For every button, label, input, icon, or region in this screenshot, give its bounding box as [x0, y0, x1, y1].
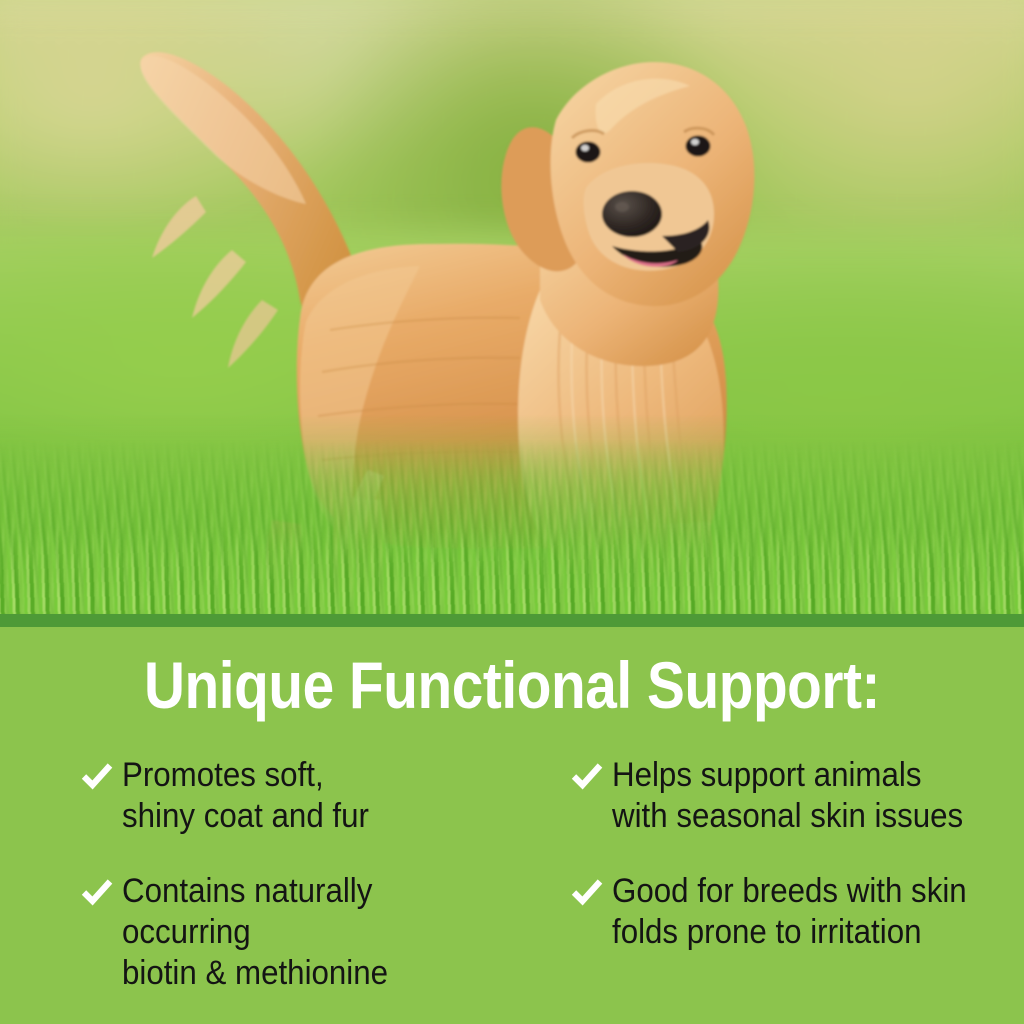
benefit-item: Good for breeds with skin folds prone to…: [570, 871, 1016, 953]
hero-photo: [0, 0, 1024, 614]
panel-headline: Unique Functional Support:: [72, 649, 953, 721]
benefit-text: Promotes soft, shiny coat and fur: [122, 755, 369, 837]
benefit-text: Good for breeds with skin folds prone to…: [612, 871, 967, 953]
benefit-text: Contains naturally occurring biotin & me…: [122, 871, 473, 994]
product-feature-card: Unique Functional Support: Promotes soft…: [0, 0, 1024, 1024]
grass-blades-front: [0, 528, 1024, 614]
benefit-item: Contains naturally occurring biotin & me…: [80, 871, 504, 994]
check-icon: [80, 759, 114, 793]
section-divider: [0, 614, 1024, 627]
check-icon: [570, 875, 604, 909]
check-icon: [80, 875, 114, 909]
check-icon: [570, 759, 604, 793]
benefits-column-left: Promotes soft, shiny coat and fur Contai…: [0, 755, 512, 1024]
benefit-item: Promotes soft, shiny coat and fur: [80, 755, 504, 837]
benefit-item: Helps support animals with seasonal skin…: [570, 755, 1016, 837]
benefit-text: Helps support animals with seasonal skin…: [612, 755, 963, 837]
benefits-panel: Unique Functional Support: Promotes soft…: [0, 627, 1024, 1024]
benefits-column-right: Helps support animals with seasonal skin…: [512, 755, 1024, 1024]
benefits-list: Promotes soft, shiny coat and fur Contai…: [0, 755, 1024, 1024]
